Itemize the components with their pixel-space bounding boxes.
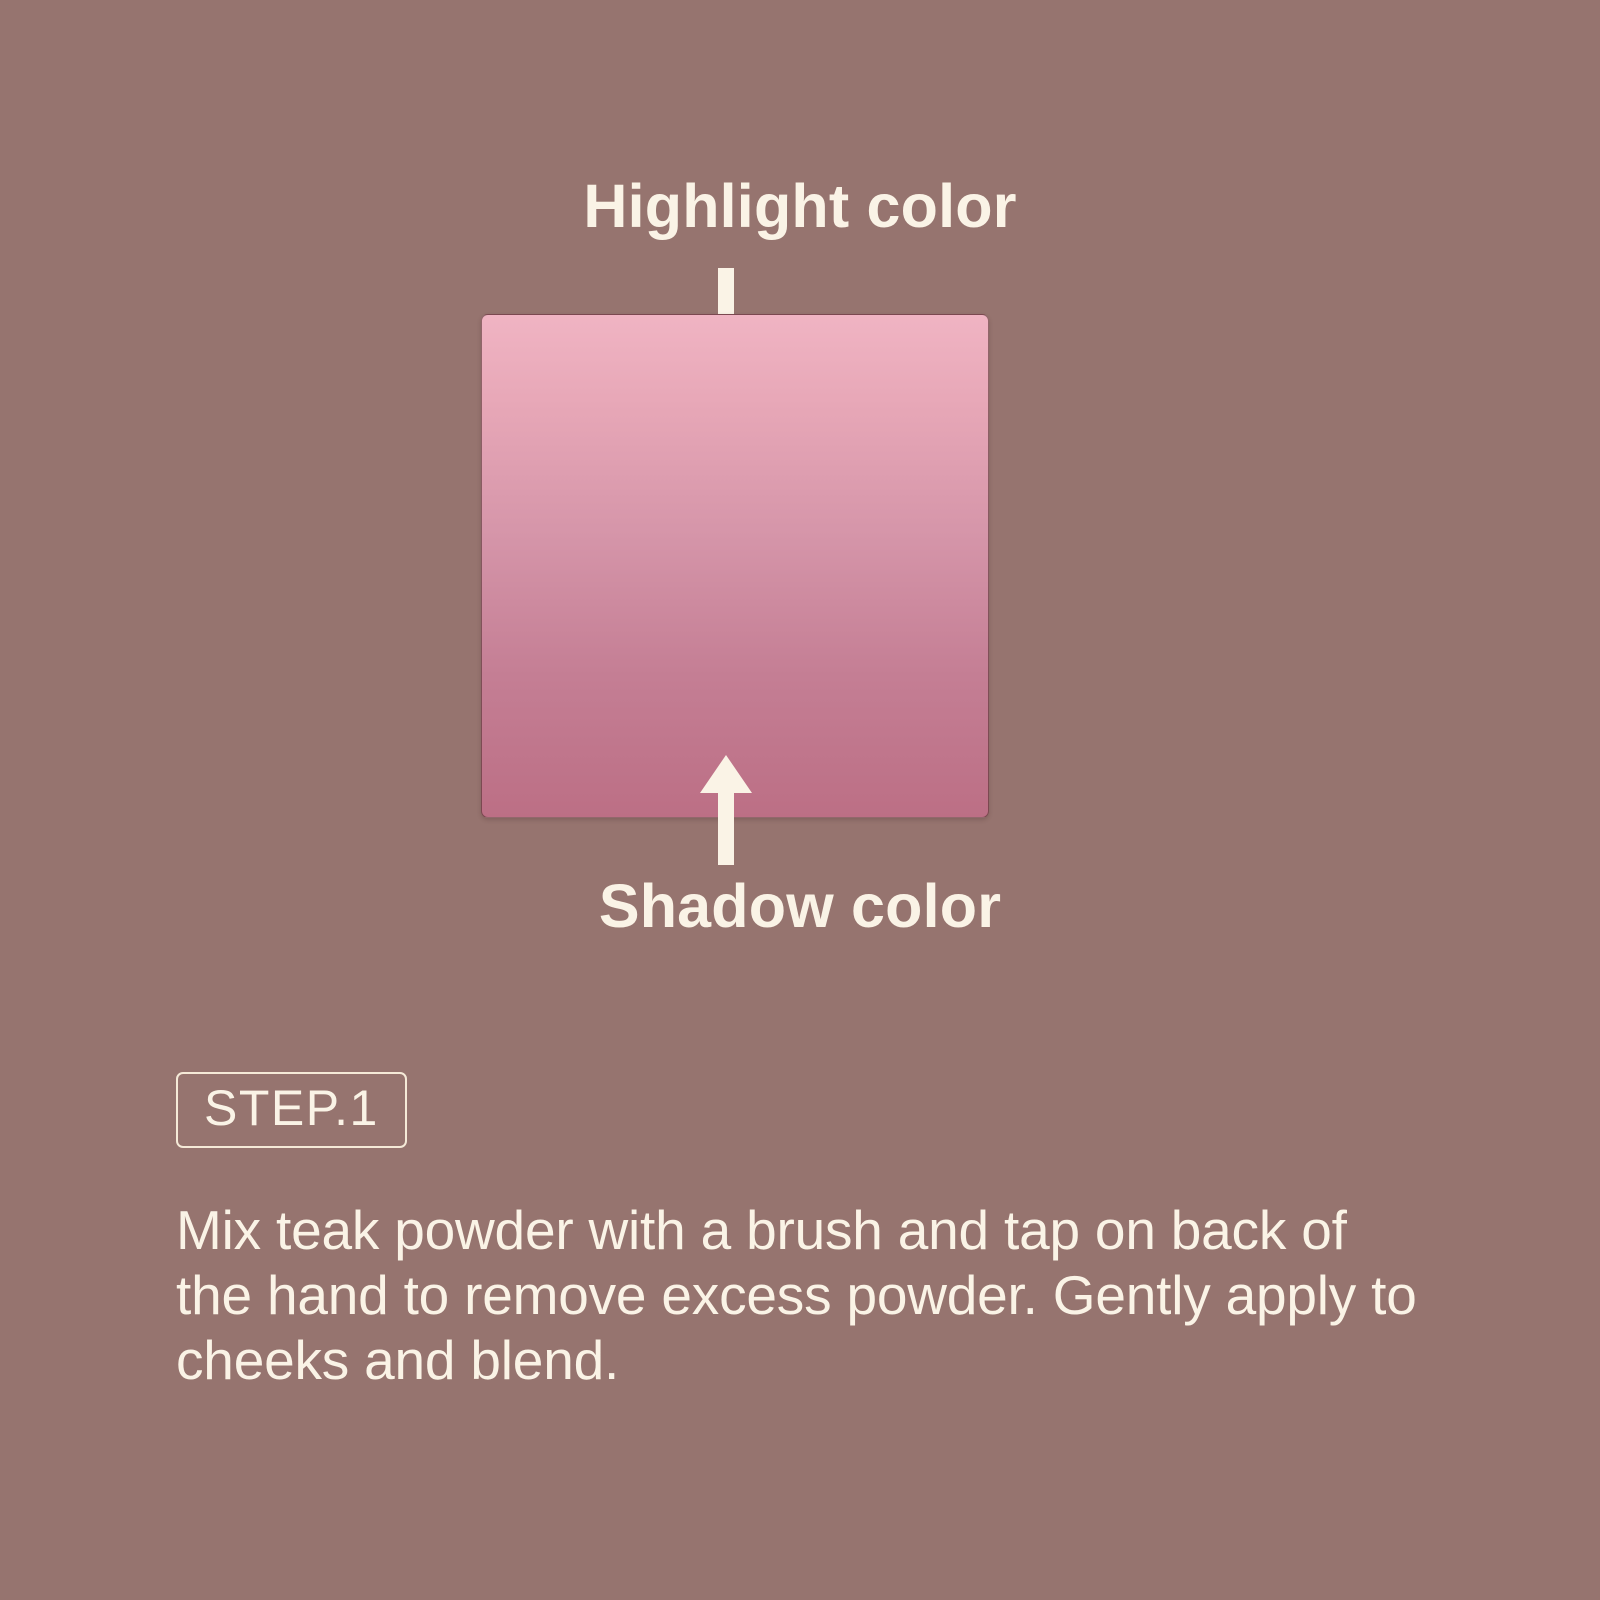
step-description-text: Mix teak powder with a brush and tap on … (176, 1198, 1426, 1393)
step-block: STEP.1 Mix teak powder with a brush and … (176, 1072, 1476, 1448)
swatch-diagram: Highlight color Shadow color (0, 0, 1600, 1000)
color-gradient-swatch (481, 314, 989, 818)
step-badge: STEP.1 (176, 1072, 407, 1148)
shadow-color-label: Shadow color (0, 876, 1600, 937)
arrow-up-icon (699, 753, 753, 865)
highlight-color-label: Highlight color (0, 176, 1600, 237)
